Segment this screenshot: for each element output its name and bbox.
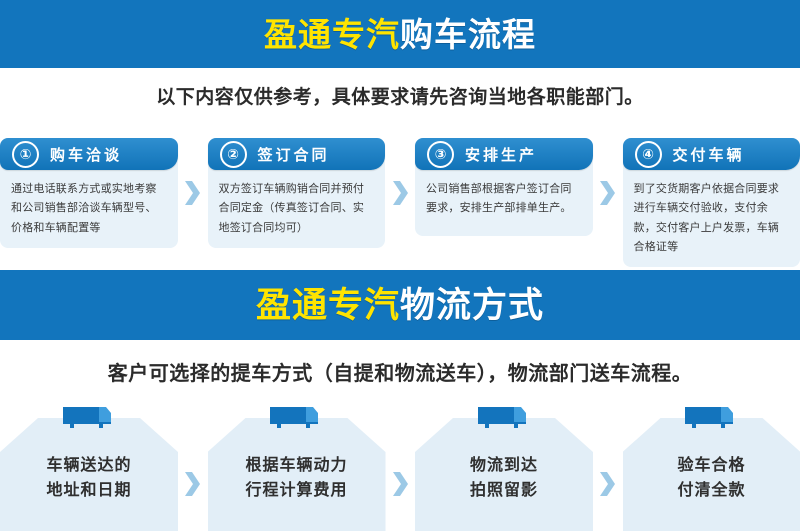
chevron-right-icon bbox=[600, 180, 615, 206]
step-body-4: 到了交货期客户依据合同要求进行车辆交付验收，支付余款，交付客户上户发票，车辆合格… bbox=[623, 170, 800, 267]
logistics-arrow-2-3 bbox=[385, 404, 415, 531]
step-number-1: ① bbox=[12, 141, 39, 168]
section-2-subtitle: 客户可选择的提车方式（自提和物流送车），物流部门送车流程。 bbox=[0, 357, 800, 386]
step-header-1: ① 购车洽谈 bbox=[0, 138, 178, 170]
step-card-1[interactable]: ① 购车洽谈 通过电话联系方式或实地考察和公司销售部洽谈车辆型号、价格和车辆配置… bbox=[0, 138, 178, 248]
logistics-card-2-text: 根据车辆动力 行程计算费用 bbox=[208, 454, 386, 504]
delivery-truck-icon bbox=[268, 404, 324, 430]
step-header-3: ③ 安排生产 bbox=[415, 138, 593, 170]
section-2-title: 盈通专汽物流方式 bbox=[256, 288, 544, 323]
delivery-truck-icon bbox=[683, 404, 739, 430]
logistics-card-4-text: 验车合格 付清全款 bbox=[623, 454, 800, 504]
logistics-card-3-text: 物流到达 拍照留影 bbox=[415, 454, 593, 504]
logistics-card-2[interactable]: 根据车辆动力 行程计算费用 bbox=[208, 404, 386, 531]
chevron-right-icon bbox=[600, 471, 615, 497]
chevron-right-icon bbox=[393, 180, 408, 206]
delivery-truck-icon bbox=[61, 404, 117, 430]
step-title-4: 交付车辆 bbox=[673, 144, 745, 165]
logistics-card-1[interactable]: 车辆送达的 地址和日期 bbox=[0, 404, 178, 531]
section-1-subtitle: 以下内容仅供参考，具体要求请先咨询当地各职能部门。 bbox=[0, 82, 800, 109]
step-title-2: 签订合同 bbox=[258, 144, 330, 165]
logistics-card-2-line2: 行程计算费用 bbox=[208, 479, 386, 504]
step-title-3: 安排生产 bbox=[465, 144, 537, 165]
step-title-1: 购车洽谈 bbox=[50, 144, 122, 165]
step-arrow-2-3 bbox=[385, 138, 415, 248]
step-card-3[interactable]: ③ 安排生产 公司销售部根据客户签订合同要求，安排生产部排单生产。 bbox=[415, 138, 593, 236]
step-body-3: 公司销售部根据客户签订合同要求，安排生产部排单生产。 bbox=[415, 170, 593, 236]
chevron-right-icon bbox=[185, 180, 200, 206]
chevron-right-icon bbox=[393, 471, 408, 497]
page-root: 盈通专汽购车流程 以下内容仅供参考，具体要求请先咨询当地各职能部门。 ① 购车洽… bbox=[0, 0, 800, 531]
step-number-3: ③ bbox=[427, 141, 454, 168]
step-arrow-1-2 bbox=[178, 138, 208, 248]
step-header-4: ④ 交付车辆 bbox=[623, 138, 800, 170]
delivery-truck-icon bbox=[476, 404, 532, 430]
step-card-2[interactable]: ② 签订合同 双方签订车辆购销合同并预付合同定金（传真签订合同、实地签订合同均可… bbox=[208, 138, 386, 248]
logistics-card-1-line1: 车辆送达的 bbox=[0, 454, 178, 479]
section-1-brand-text: 盈通专汽 bbox=[264, 16, 400, 53]
step-body-2: 双方签订车辆购销合同并预付合同定金（传真签订合同、实地签订合同均可） bbox=[208, 170, 386, 248]
step-number-2: ② bbox=[220, 141, 247, 168]
logistics-arrow-1-2 bbox=[178, 404, 208, 531]
section-1-title-text: 购车流程 bbox=[400, 16, 536, 53]
logistics-card-3-line1: 物流到达 bbox=[415, 454, 593, 479]
section-1-title-band: 盈通专汽购车流程 bbox=[0, 0, 800, 68]
section-2-title-band: 盈通专汽物流方式 bbox=[0, 270, 800, 340]
logistics-card-1-line2: 地址和日期 bbox=[0, 479, 178, 504]
logistics-card-2-line1: 根据车辆动力 bbox=[208, 454, 386, 479]
logistics-card-3[interactable]: 物流到达 拍照留影 bbox=[415, 404, 593, 531]
step-header-2: ② 签订合同 bbox=[208, 138, 386, 170]
section-2-brand-text: 盈通专汽 bbox=[256, 286, 400, 325]
step-body-1: 通过电话联系方式或实地考察和公司销售部洽谈车辆型号、价格和车辆配置等 bbox=[0, 170, 178, 248]
chevron-right-icon bbox=[185, 471, 200, 497]
logistics-card-3-line2: 拍照留影 bbox=[415, 479, 593, 504]
logistics-card-4[interactable]: 验车合格 付清全款 bbox=[623, 404, 800, 531]
section-2-title-text: 物流方式 bbox=[400, 286, 544, 325]
step-number-4: ④ bbox=[635, 141, 662, 168]
logistics-card-4-line1: 验车合格 bbox=[623, 454, 800, 479]
purchase-steps-row: ① 购车洽谈 通过电话联系方式或实地考察和公司销售部洽谈车辆型号、价格和车辆配置… bbox=[0, 138, 800, 248]
step-card-4[interactable]: ④ 交付车辆 到了交货期客户依据合同要求进行车辆交付验收，支付余款，交付客户上户… bbox=[623, 138, 800, 267]
section-1-title: 盈通专汽购车流程 bbox=[264, 18, 536, 51]
logistics-card-4-line2: 付清全款 bbox=[623, 479, 800, 504]
step-arrow-3-4 bbox=[593, 138, 623, 248]
logistics-card-1-text: 车辆送达的 地址和日期 bbox=[0, 454, 178, 504]
logistics-arrow-3-4 bbox=[593, 404, 623, 531]
logistics-cards-row: 车辆送达的 地址和日期 根据车辆动力 bbox=[0, 404, 800, 531]
